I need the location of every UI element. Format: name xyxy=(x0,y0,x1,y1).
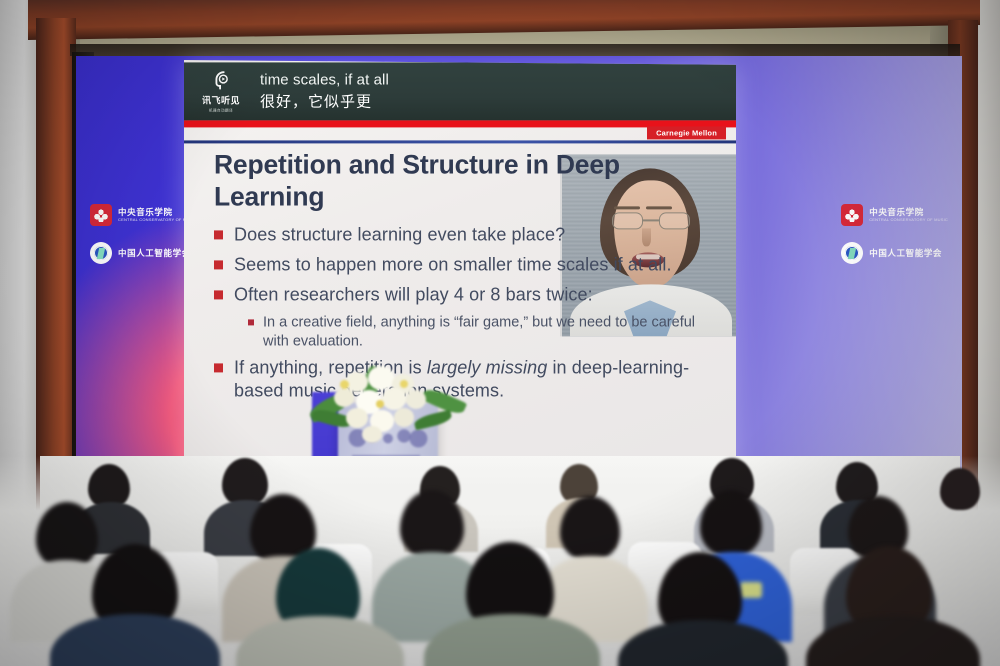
logo-en-label: CENTRAL CONSERVATORY OF MUSIC xyxy=(869,218,948,222)
bullet-text: Often researchers will play 4 or 8 bars … xyxy=(234,283,593,306)
backdrop-logos-left: 中央音乐学院 CENTRAL CONSERVATORY OF MUSIC 中国人… xyxy=(90,204,197,264)
jacket-badge xyxy=(740,582,762,598)
logo-caai-left: 中国人工智能学会 xyxy=(90,242,197,264)
bullet-square-icon xyxy=(214,364,223,373)
affiliation-badge: Carnegie Mellon xyxy=(647,126,726,139)
logo-cn-label: 中国人工智能学会 xyxy=(869,249,942,258)
stage-frame-shadow xyxy=(70,44,960,56)
slide-sub-bullet-list: In a creative field, anything is “fair g… xyxy=(248,313,720,351)
caption-chinese-line: 很好，它似乎更 xyxy=(260,90,389,111)
logo-ccom-left: 中央音乐学院 CENTRAL CONSERVATORY OF MUSIC xyxy=(90,204,197,226)
caai-logo-icon xyxy=(90,242,112,264)
flower-arrangement xyxy=(306,364,466,444)
slide-bullet-list: Does structure learning even take place?… xyxy=(214,223,720,306)
slide-title: Repetition and Structure in Deep Learnin… xyxy=(214,148,720,213)
logo-cn-label: 中国人工智能学会 xyxy=(118,249,191,258)
iflytek-sub-label: 机器自动翻译 xyxy=(209,108,233,113)
audience-head xyxy=(700,490,762,556)
audience-head xyxy=(222,458,268,506)
bullet-item: Often researchers will play 4 or 8 bars … xyxy=(214,283,720,306)
conference-hall-scene: 中央音乐学院 CENTRAL CONSERVATORY OF MUSIC 中国人… xyxy=(0,0,1000,666)
audience-area xyxy=(0,456,1000,666)
logo-ccom-right: 中央音乐学院 CENTRAL CONSERVATORY OF MUSIC xyxy=(841,204,948,226)
bullet-item: Seems to happen more on smaller time sca… xyxy=(214,253,720,276)
bullet-square-icon xyxy=(214,290,223,299)
sub-bullet-square-icon xyxy=(248,319,254,325)
bullet-item: Does structure learning even take place? xyxy=(214,223,720,246)
slide-final-bullet-list: If anything, repetition is largely missi… xyxy=(214,357,720,403)
bullet-item-final: If anything, repetition is largely missi… xyxy=(214,357,720,403)
iflytek-cn-label: 讯飞听见 xyxy=(202,93,240,106)
bullet-text: Does structure learning even take place? xyxy=(234,223,565,246)
caai-logo-icon xyxy=(841,242,863,264)
audience-head xyxy=(940,468,980,510)
ccom-logo-icon xyxy=(90,204,112,226)
bullet-square-icon xyxy=(214,230,223,239)
slide-blue-rule xyxy=(184,140,736,143)
bullet-text: Seems to happen more on smaller time sca… xyxy=(234,253,672,276)
audience-head xyxy=(560,496,620,560)
slide-content: Repetition and Structure in Deep Learnin… xyxy=(214,148,720,410)
bullet-square-icon xyxy=(214,260,223,269)
caption-english-line: time scales, if at all xyxy=(260,71,389,88)
logo-cn-label: 中央音乐学院 xyxy=(869,208,948,217)
live-caption-bar: 讯飞听见 机器自动翻译 time scales, if at all 很好，它似… xyxy=(184,62,736,120)
iflytek-branding: 讯飞听见 机器自动翻译 xyxy=(192,69,250,113)
logo-caai-right: 中国人工智能学会 xyxy=(841,242,948,264)
sub-bullet-text: In a creative field, anything is “fair g… xyxy=(263,313,720,351)
backdrop-logos-right: 中央音乐学院 CENTRAL CONSERVATORY OF MUSIC 中国人… xyxy=(841,204,948,264)
sub-bullet-item: In a creative field, anything is “fair g… xyxy=(248,313,720,351)
ear-play-icon xyxy=(210,69,232,91)
ccom-logo-icon xyxy=(841,204,863,226)
